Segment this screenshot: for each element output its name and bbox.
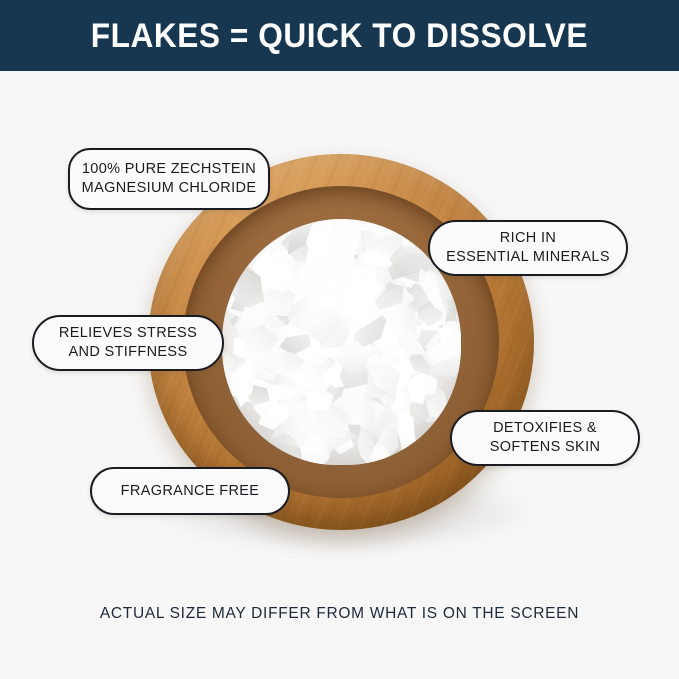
callout-minerals: RICH IN ESSENTIAL MINERALS xyxy=(428,220,628,276)
callout-detoxifies: DETOXIFIES & SOFTENS SKIN xyxy=(450,410,640,466)
callout-fragrance-free: FRAGRANCE FREE xyxy=(90,467,290,515)
disclaimer-caption: ACTUAL SIZE MAY DIFFER FROM WHAT IS ON T… xyxy=(0,605,679,623)
header-banner: FLAKES = QUICK TO DISSOLVE xyxy=(0,0,679,71)
magnesium-flake-pile xyxy=(222,219,461,466)
page-title: FLAKES = QUICK TO DISSOLVE xyxy=(91,19,588,53)
callout-purity: 100% PURE ZECHSTEIN MAGNESIUM CHLORIDE xyxy=(68,148,270,210)
callout-stress-relief: RELIEVES STRESS AND STIFFNESS xyxy=(32,315,224,371)
product-infographic: FLAKES = QUICK TO DISSOLVE 100% PURE ZEC… xyxy=(0,0,679,679)
